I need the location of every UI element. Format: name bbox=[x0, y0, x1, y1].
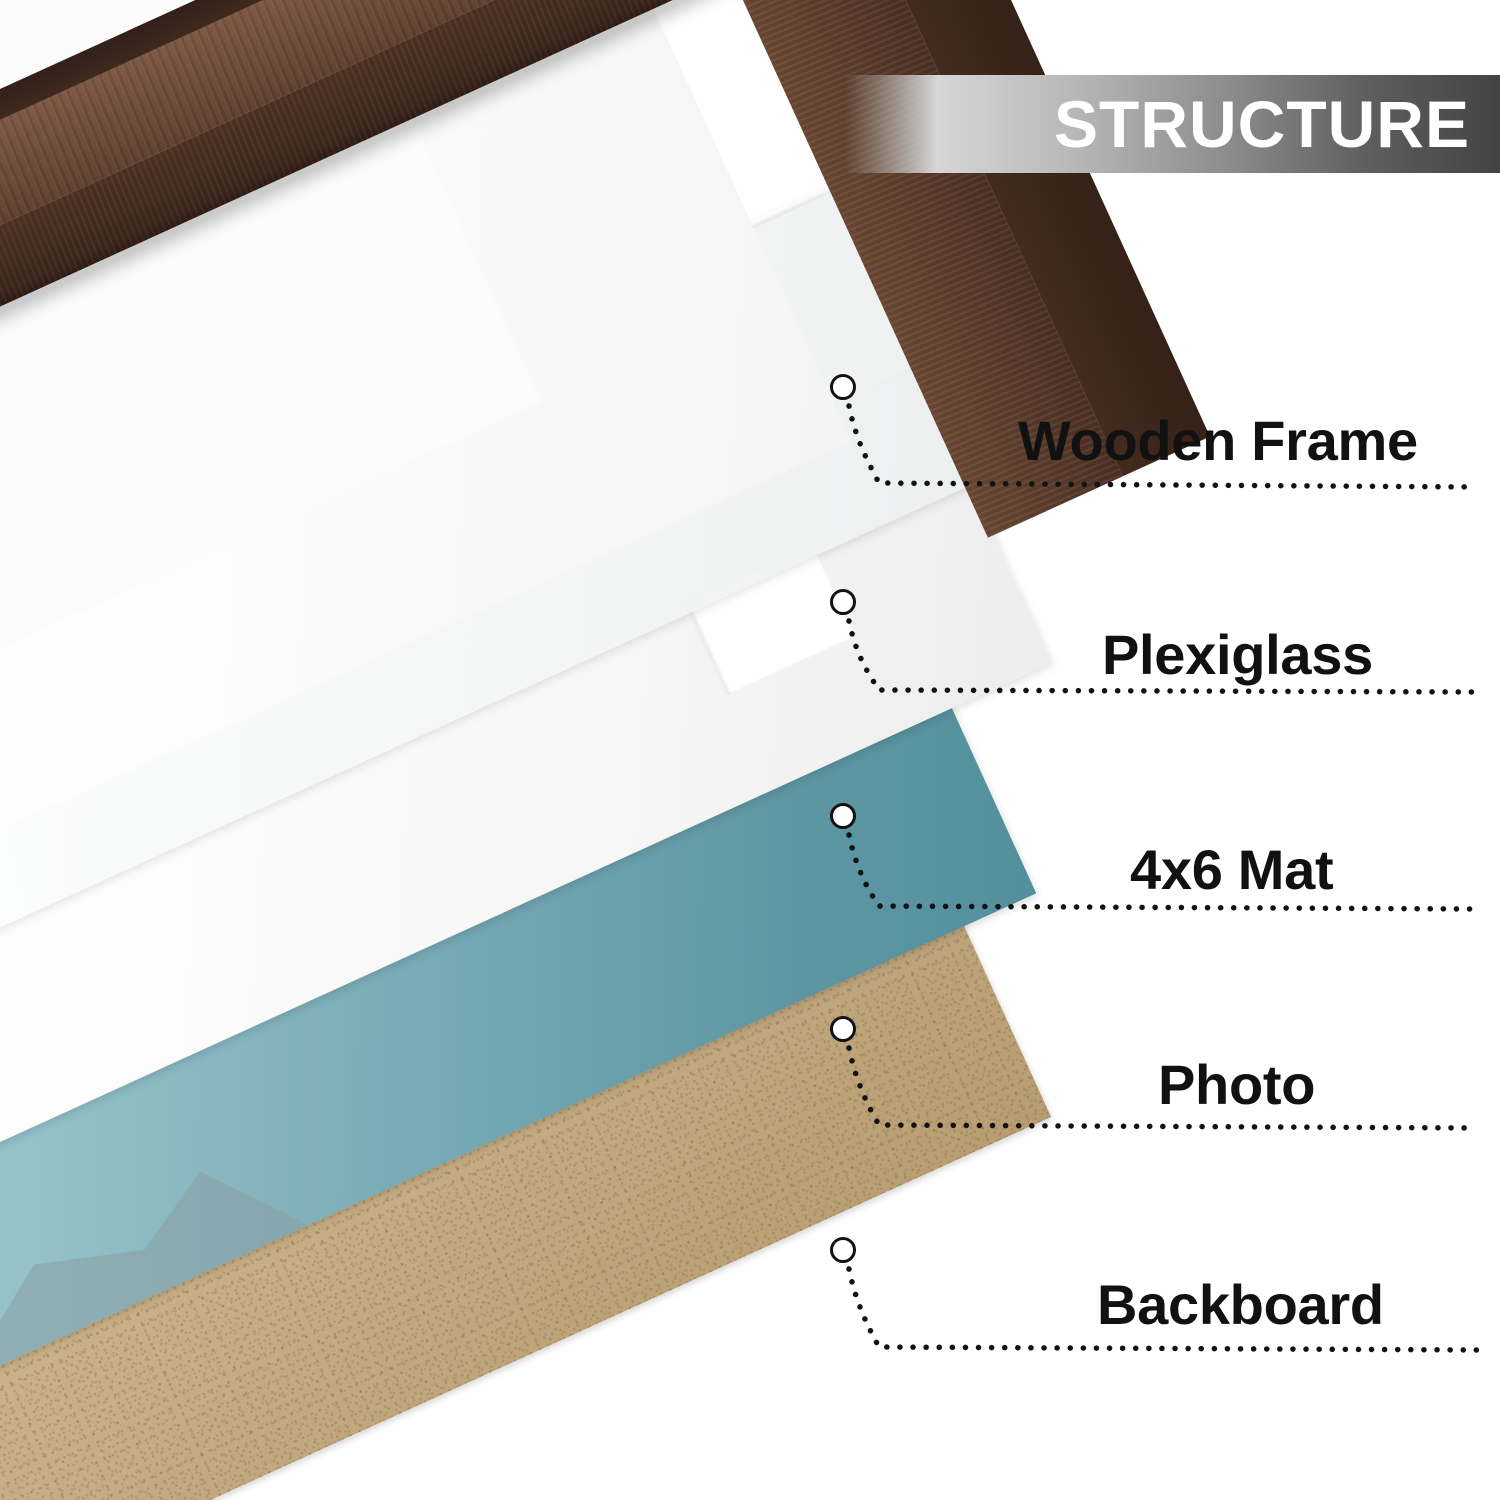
frame-exploded-stack bbox=[0, 0, 1500, 1500]
banner-title: STRUCTURE bbox=[1054, 91, 1470, 157]
structure-banner: STRUCTURE bbox=[845, 75, 1500, 173]
product-infographic: STRUCTURE Wooden Frame Plexiglass 4x6 Ma… bbox=[0, 0, 1500, 1500]
